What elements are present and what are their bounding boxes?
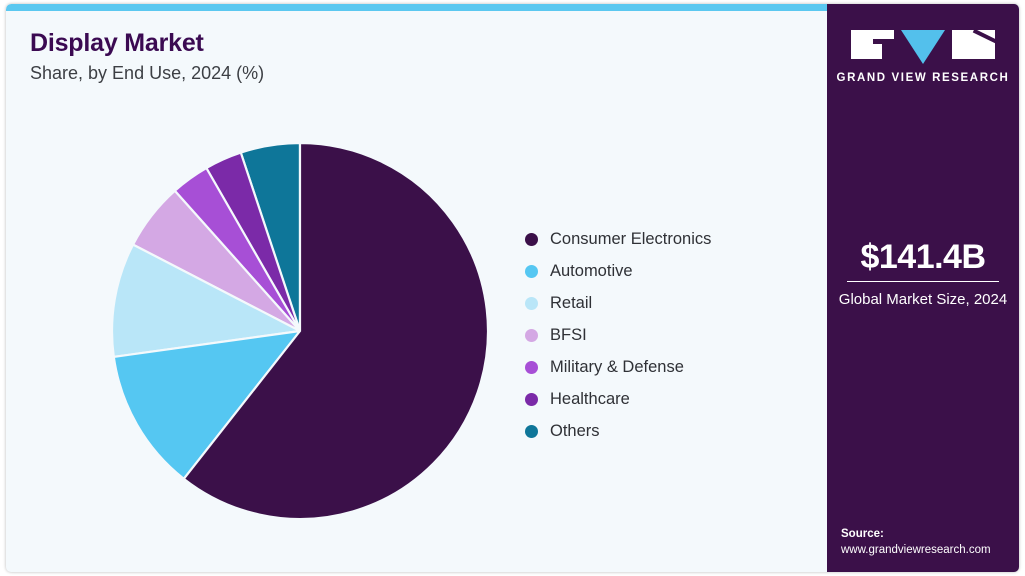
legend-swatch-icon xyxy=(525,297,538,310)
legend-label: BFSI xyxy=(550,325,587,345)
legend-swatch-icon xyxy=(525,361,538,374)
logo-marks xyxy=(827,30,1019,64)
legend-item-automotive[interactable]: Automotive xyxy=(525,255,805,287)
legend-label: Military & Defense xyxy=(550,357,684,377)
legend-item-others[interactable]: Others xyxy=(525,415,805,447)
pie-slices xyxy=(112,143,488,519)
infographic-root: Display Market Share, by End Use, 2024 (… xyxy=(0,0,1025,576)
stat-value: $141.4B xyxy=(827,236,1019,278)
stat-divider xyxy=(847,281,999,282)
legend-swatch-icon xyxy=(525,265,538,278)
stat-caption: Global Market Size, 2024 xyxy=(827,289,1019,310)
legend-label: Retail xyxy=(550,293,592,313)
brand-side-panel: GRAND VIEW RESEARCH $141.4B Global Marke… xyxy=(827,4,1019,572)
legend-swatch-icon xyxy=(525,393,538,406)
legend-label: Healthcare xyxy=(550,389,630,409)
legend-swatch-icon xyxy=(525,233,538,246)
legend-label: Consumer Electronics xyxy=(550,229,711,249)
logo-letter-v-icon xyxy=(901,30,945,64)
logo-letter-r-icon xyxy=(952,30,995,59)
legend-label: Others xyxy=(550,421,600,441)
legend-item-consumer-electronics[interactable]: Consumer Electronics xyxy=(525,223,805,255)
brand-logo: GRAND VIEW RESEARCH xyxy=(827,30,1019,84)
legend-item-bfsi[interactable]: BFSI xyxy=(525,319,805,351)
legend-item-military-and-defense[interactable]: Military & Defense xyxy=(525,351,805,383)
content-card: Display Market Share, by End Use, 2024 (… xyxy=(6,4,1019,572)
legend-item-retail[interactable]: Retail xyxy=(525,287,805,319)
chart-area: Consumer Electronics Automotive Retail B… xyxy=(6,4,826,572)
legend-swatch-icon xyxy=(525,425,538,438)
chart-legend: Consumer Electronics Automotive Retail B… xyxy=(525,223,805,447)
source-label: Source: xyxy=(841,526,1019,542)
source-note: Source: www.grandviewresearch.com xyxy=(841,526,1019,558)
legend-label: Automotive xyxy=(550,261,633,281)
logo-letter-g-icon xyxy=(851,30,894,59)
legend-item-healthcare[interactable]: Healthcare xyxy=(525,383,805,415)
brand-name: GRAND VIEW RESEARCH xyxy=(827,72,1019,84)
legend-swatch-icon xyxy=(525,329,538,342)
source-url[interactable]: www.grandviewresearch.com xyxy=(841,542,1019,558)
pie-chart xyxy=(102,129,502,529)
key-stat: $141.4B Global Market Size, 2024 xyxy=(827,236,1019,310)
